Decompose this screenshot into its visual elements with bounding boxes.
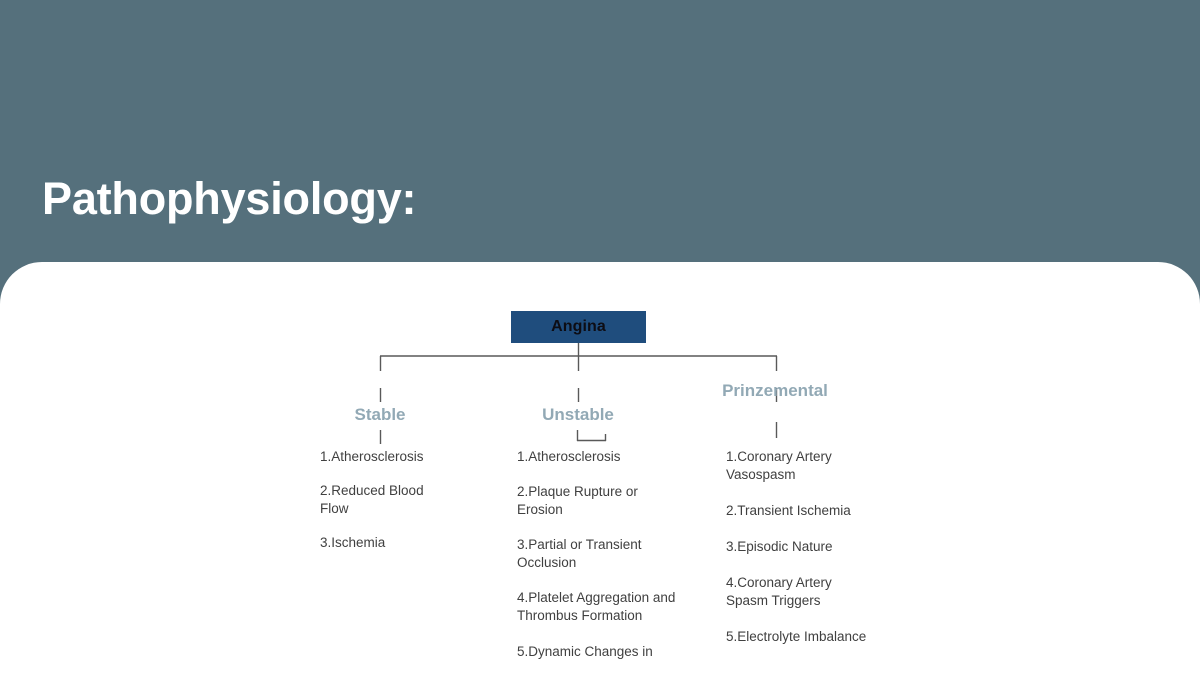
- slide: Pathophysiology:: [0, 0, 1200, 675]
- list-item: 2.Transient Ischemia: [726, 502, 876, 520]
- list-item: 1.Atherosclerosis: [517, 448, 677, 466]
- branch-item-list-prinzemental: 1.Coronary Artery Vasospasm 2.Transient …: [726, 448, 876, 665]
- list-item: 4.Platelet Aggregation and Thrombus Form…: [517, 589, 677, 625]
- list-item: 3.Episodic Nature: [726, 538, 876, 556]
- list-item: 2.Plaque Rupture or Erosion: [517, 483, 677, 519]
- list-item: 1.Atherosclerosis: [320, 448, 440, 466]
- pathophysiology-tree-diagram: Angina Stable Unstable Prinzemental 1.At…: [0, 262, 1200, 675]
- list-item: 4.Coronary Artery Spasm Triggers: [726, 574, 876, 610]
- tree-root-node-label: Angina: [551, 318, 606, 336]
- branch-item-list-stable: 1.Atherosclerosis 2.Reduced Blood Flow 3…: [320, 448, 440, 568]
- list-item: 2.Reduced Blood Flow: [320, 482, 440, 518]
- tree-root-node-angina[interactable]: Angina: [511, 311, 646, 343]
- branch-heading-prinzemental: Prinzemental: [695, 380, 855, 403]
- branch-item-list-unstable: 1.Atherosclerosis 2.Plaque Rupture or Er…: [517, 448, 677, 675]
- list-item: 5.Electrolyte Imbalance: [726, 628, 876, 646]
- content-panel: Angina Stable Unstable Prinzemental 1.At…: [0, 262, 1200, 675]
- list-item: 1.Coronary Artery Vasospasm: [726, 448, 876, 484]
- branch-heading-stable: Stable: [300, 404, 460, 427]
- list-item: 3.Partial or Transient Occlusion: [517, 536, 677, 572]
- branch-heading-unstable: Unstable: [498, 404, 658, 427]
- list-item: 5.Dynamic Changes in: [517, 643, 677, 661]
- list-item: 3.Ischemia: [320, 534, 440, 552]
- page-title: Pathophysiology:: [42, 174, 416, 224]
